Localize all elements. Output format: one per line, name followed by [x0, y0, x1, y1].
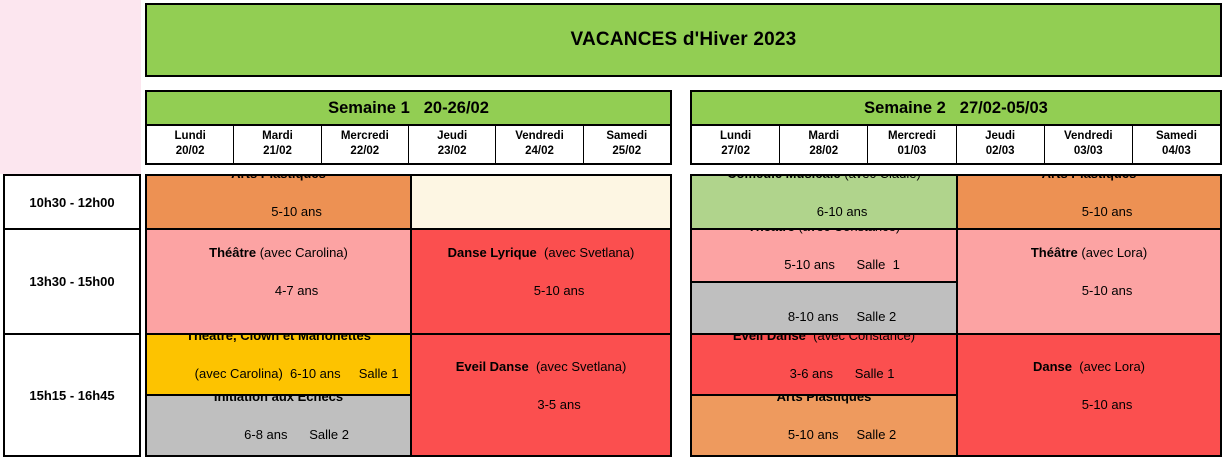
activity-animator: (avec Lora): [1081, 245, 1147, 260]
week-2-day-header-row: Lundi 27/02 Mardi 28/02 Mercredi 01/03 J…: [690, 126, 1222, 165]
day-date: 25/02: [584, 144, 670, 159]
activity-ages: 5-10 ans: [1082, 283, 1133, 298]
activity-ages: 5-10 ans: [271, 204, 322, 219]
activity-initiation-echecs-w1[interactable]: Initiation aux Echecs 6-8 ans Salle 2: [147, 394, 410, 455]
day-name: Mercredi: [322, 129, 408, 144]
activity-detail-line: 5-10 ans: [498, 262, 585, 319]
day-date: 02/03: [957, 144, 1044, 159]
cell-w2-r3-jeu-sam[interactable]: Danse (avec Lora) 5-10 ans: [958, 335, 1220, 455]
schedule-row-1515-w2: Eveil Danse (avec Constance) 3-6 ans Sal…: [692, 335, 1220, 455]
activity-theatre-clown-marionettes[interactable]: Théâtre, Clown et Marionettes (avec Caro…: [147, 335, 410, 394]
activity-title: Théâtre, Clown et Marionettes: [186, 335, 371, 343]
day-name: Mercredi: [868, 129, 955, 144]
activity-title: Danse Lyrique: [448, 245, 537, 260]
activity-empty-slot[interactable]: [412, 176, 670, 228]
week-1-name: Semaine 1: [328, 99, 410, 118]
activity-detail-line: 5-10 ans Salle 2: [752, 406, 897, 455]
activity-animator: (avec Cladie): [844, 176, 921, 181]
activity-ages: 6-8 ans: [244, 427, 287, 442]
activity-detail-line: 3-6 ans Salle 1: [754, 345, 895, 394]
day-header-samedi-w1: Samedi 25/02: [584, 126, 670, 163]
activity-ages: 5-10 ans: [784, 257, 835, 272]
activity-title: Théâtre: [1031, 245, 1078, 260]
activity-theatre-carolina[interactable]: Théâtre (avec Carolina) 4-7 ans: [147, 230, 410, 333]
day-date: 01/03: [868, 144, 955, 159]
cell-w2-r2-jeu-sam[interactable]: Théâtre (avec Lora) 5-10 ans: [958, 230, 1220, 333]
activity-arts-plastiques-w2[interactable]: Arts Plastiques 5-10 ans: [958, 176, 1220, 228]
activity-animator: (avec Svetlana): [544, 245, 634, 260]
activity-ages: 4-7 ans: [275, 283, 318, 298]
schedule-grid-week-1: Arts Plastiques 5-10 ans Théâtre (avec C…: [145, 174, 672, 457]
day-header-lundi-w1: Lundi 20/02: [147, 126, 234, 163]
time-slot-2: 13h30 - 15h00: [5, 230, 139, 335]
day-date: 04/03: [1133, 144, 1220, 159]
week-1-banner: Semaine 1 20-26/02: [145, 90, 672, 126]
week-2-dates: 27/02-05/03: [960, 99, 1048, 118]
cell-w1-r2-jeu-sam[interactable]: Danse Lyrique (avec Svetlana) 5-10 ans: [412, 230, 670, 333]
day-name: Vendredi: [1045, 129, 1132, 144]
activity-title-line: Arts Plastiques: [777, 394, 872, 406]
day-date: 22/02: [322, 144, 408, 159]
cell-w2-r1-lun-mer[interactable]: Comédie Musicale (avec Cladie) 6-10 ans: [692, 176, 958, 228]
time-slot-1: 10h30 - 12h00: [5, 176, 139, 230]
schedule-row-1030-w2: Comédie Musicale (avec Cladie) 6-10 ans …: [692, 176, 1220, 230]
activity-ages: 5-10 ans: [534, 283, 585, 298]
activity-title-line: Théâtre (avec Lora): [1031, 244, 1147, 262]
activity-animator: (avec Svetlana): [536, 359, 626, 374]
activity-room: Salle 1: [359, 366, 399, 381]
cell-w1-r2-lun-mer[interactable]: Théâtre (avec Carolina) 4-7 ans: [147, 230, 412, 333]
day-header-jeudi-w2: Jeudi 02/03: [957, 126, 1045, 163]
cell-w1-r3-lun-mer[interactable]: Théâtre, Clown et Marionettes (avec Caro…: [147, 335, 412, 455]
activity-eveil-danse-svetlana[interactable]: Eveil Danse (avec Svetlana) 3-5 ans: [412, 335, 670, 455]
cell-w2-r2-lun-mer[interactable]: Théâtre (avec Constance) 5-10 ans Salle …: [692, 230, 958, 333]
day-name: Jeudi: [957, 129, 1044, 144]
activity-ages: 5-10 ans: [1082, 204, 1133, 219]
activity-title: Théâtre: [748, 230, 795, 234]
activity-theatre-constance[interactable]: Théâtre (avec Constance) 5-10 ans Salle …: [692, 230, 956, 281]
activity-animator: (avec Carolina): [260, 245, 348, 260]
day-name: Samedi: [1133, 129, 1220, 144]
day-date: 27/02: [692, 144, 779, 159]
activity-eveil-danse-constance[interactable]: Eveil Danse (avec Constance) 3-6 ans Sal…: [692, 335, 956, 394]
activity-title: Danse: [1033, 359, 1072, 374]
activity-title: Arts Plastiques: [231, 176, 326, 181]
activity-title-line: Eveil Danse (avec Svetlana): [456, 358, 627, 376]
week-1-dates: 20-26/02: [424, 99, 489, 118]
activity-detail-line: 8-10 ans Salle 2: [752, 288, 897, 333]
day-name: Vendredi: [496, 129, 582, 144]
page-title: VACANCES d'Hiver 2023: [145, 3, 1222, 77]
activity-detail-line: 6-8 ans Salle 2: [208, 406, 349, 455]
schedule-grid-week-2: Comédie Musicale (avec Cladie) 6-10 ans …: [690, 174, 1222, 457]
cell-w2-r1-jeu-sam[interactable]: Arts Plastiques 5-10 ans: [958, 176, 1220, 228]
activity-title-line: Danse Lyrique (avec Svetlana): [448, 244, 635, 262]
activity-animator: (avec Carolina): [195, 366, 283, 381]
schedule-row-1330-w2: Théâtre (avec Constance) 5-10 ans Salle …: [692, 230, 1220, 335]
week-2-name: Semaine 2: [864, 99, 946, 118]
activity-title-line: Théâtre (avec Carolina): [209, 244, 348, 262]
activity-room: Salle 1: [855, 366, 895, 381]
schedule-row-1030-w1: Arts Plastiques 5-10 ans: [147, 176, 670, 230]
day-header-mercredi-w2: Mercredi 01/03: [868, 126, 956, 163]
week-1-day-header-row: Lundi 20/02 Mardi 21/02 Mercredi 22/02 J…: [145, 126, 672, 165]
cell-w1-r3-jeu-sam[interactable]: Eveil Danse (avec Svetlana) 3-5 ans: [412, 335, 670, 455]
cell-w2-r3-lun-mer[interactable]: Eveil Danse (avec Constance) 3-6 ans Sal…: [692, 335, 958, 455]
day-header-vendredi-w1: Vendredi 24/02: [496, 126, 583, 163]
day-date: 24/02: [496, 144, 582, 159]
activity-room: Salle 1: [857, 257, 900, 272]
activity-initiation-echecs-w2[interactable]: Initiation aux Echecs 8-10 ans Salle 2: [692, 281, 956, 334]
activity-animator: (avec Lora): [1079, 359, 1145, 374]
activity-theatre-lora[interactable]: Théâtre (avec Lora) 5-10 ans: [958, 230, 1220, 333]
activity-title: Eveil Danse: [456, 359, 529, 374]
activity-detail-line: 5-10 ans: [235, 183, 322, 229]
cell-w1-r1-jeu-sam[interactable]: [412, 176, 670, 228]
day-header-mardi-w2: Mardi 28/02: [780, 126, 868, 163]
day-date: 23/02: [409, 144, 495, 159]
activity-ages: 3-6 ans: [790, 366, 833, 381]
day-date: 03/03: [1045, 144, 1132, 159]
activity-title-line: Initiation aux Echecs: [214, 394, 343, 406]
activity-comedie-musicale[interactable]: Comédie Musicale (avec Cladie) 6-10 ans: [692, 176, 956, 228]
activity-ages: 8-10 ans: [788, 309, 839, 324]
activity-room: Salle 2: [857, 427, 897, 442]
activity-title: Initiation aux Echecs: [214, 394, 343, 404]
day-name: Lundi: [692, 129, 779, 144]
day-date: 28/02: [780, 144, 867, 159]
day-name: Jeudi: [409, 129, 495, 144]
day-date: 20/02: [147, 144, 233, 159]
activity-title-line: Initiation aux Echecs: [759, 281, 888, 289]
time-slot-3: 15h15 - 16h45: [5, 335, 139, 455]
activity-arts-plastiques-w2-pm[interactable]: Arts Plastiques 5-10 ans Salle 2: [692, 394, 956, 455]
activity-arts-plastiques[interactable]: Arts Plastiques 5-10 ans: [147, 176, 410, 228]
week-2-banner: Semaine 2 27/02-05/03: [690, 90, 1222, 126]
activity-room: Salle 2: [857, 309, 897, 324]
activity-room: Salle 2: [309, 427, 349, 442]
activity-detail-line: (avec Carolina) 6-10 ans Salle 1: [159, 345, 399, 394]
day-header-lundi-w2: Lundi 27/02: [692, 126, 780, 163]
activity-title: Initiation aux Echecs: [759, 281, 888, 287]
activity-title-line: Danse (avec Lora): [1033, 358, 1145, 376]
activity-danse-lora[interactable]: Danse (avec Lora) 5-10 ans: [958, 335, 1220, 455]
day-name: Samedi: [584, 129, 670, 144]
activity-animator: (avec Constance): [813, 335, 915, 343]
activity-detail-line: 5-10 ans: [1046, 183, 1133, 229]
activity-detail-line: 3-5 ans: [501, 376, 581, 433]
day-header-mercredi-w1: Mercredi 22/02: [322, 126, 409, 163]
activity-ages: 5-10 ans: [1082, 397, 1133, 412]
activity-title: Comédie Musicale: [727, 176, 840, 181]
day-header-jeudi-w1: Jeudi 23/02: [409, 126, 496, 163]
decorative-pink-panel: [0, 0, 141, 174]
day-name: Mardi: [780, 129, 867, 144]
activity-title: Arts Plastiques: [777, 394, 872, 404]
schedule-row-1330-w1: Théâtre (avec Carolina) 4-7 ans Danse Ly…: [147, 230, 670, 335]
cell-w1-r1-lun-mer[interactable]: Arts Plastiques 5-10 ans: [147, 176, 412, 228]
day-header-mardi-w1: Mardi 21/02: [234, 126, 321, 163]
activity-ages: 6-10 ans: [290, 366, 341, 381]
activity-title: Arts Plastiques: [1042, 176, 1137, 181]
activity-animator: (avec Constance): [798, 230, 900, 234]
schedule-row-1515-w1: Théâtre, Clown et Marionettes (avec Caro…: [147, 335, 670, 455]
time-slot-column: 10h30 - 12h00 13h30 - 15h00 15h15 - 16h4…: [3, 174, 141, 457]
activity-ages: 6-10 ans: [817, 204, 868, 219]
activity-title-line: Théâtre, Clown et Marionettes: [186, 335, 371, 345]
day-date: 21/02: [234, 144, 320, 159]
activity-title: Eveil Danse: [733, 335, 806, 343]
activity-ages: 5-10 ans: [788, 427, 839, 442]
activity-detail-line: 5-10 ans: [1046, 376, 1133, 433]
activity-ages: 3-5 ans: [537, 397, 580, 412]
activity-title: Théâtre: [209, 245, 256, 260]
activity-detail-line: 4-7 ans: [239, 262, 319, 319]
week-block-2: Semaine 2 27/02-05/03 Lundi 27/02 Mardi …: [690, 90, 1222, 165]
activity-detail-line: 5-10 ans: [1046, 262, 1133, 319]
day-name: Mardi: [234, 129, 320, 144]
day-header-vendredi-w2: Vendredi 03/03: [1045, 126, 1133, 163]
activity-danse-lyrique[interactable]: Danse Lyrique (avec Svetlana) 5-10 ans: [412, 230, 670, 333]
day-header-samedi-w2: Samedi 04/03: [1133, 126, 1220, 163]
day-name: Lundi: [147, 129, 233, 144]
week-block-1: Semaine 1 20-26/02 Lundi 20/02 Mardi 21/…: [145, 90, 672, 165]
activity-title-line: Eveil Danse (avec Constance): [733, 335, 915, 345]
activity-detail-line: 5-10 ans Salle 1: [748, 236, 900, 281]
activity-detail-line: 6-10 ans: [781, 183, 868, 229]
